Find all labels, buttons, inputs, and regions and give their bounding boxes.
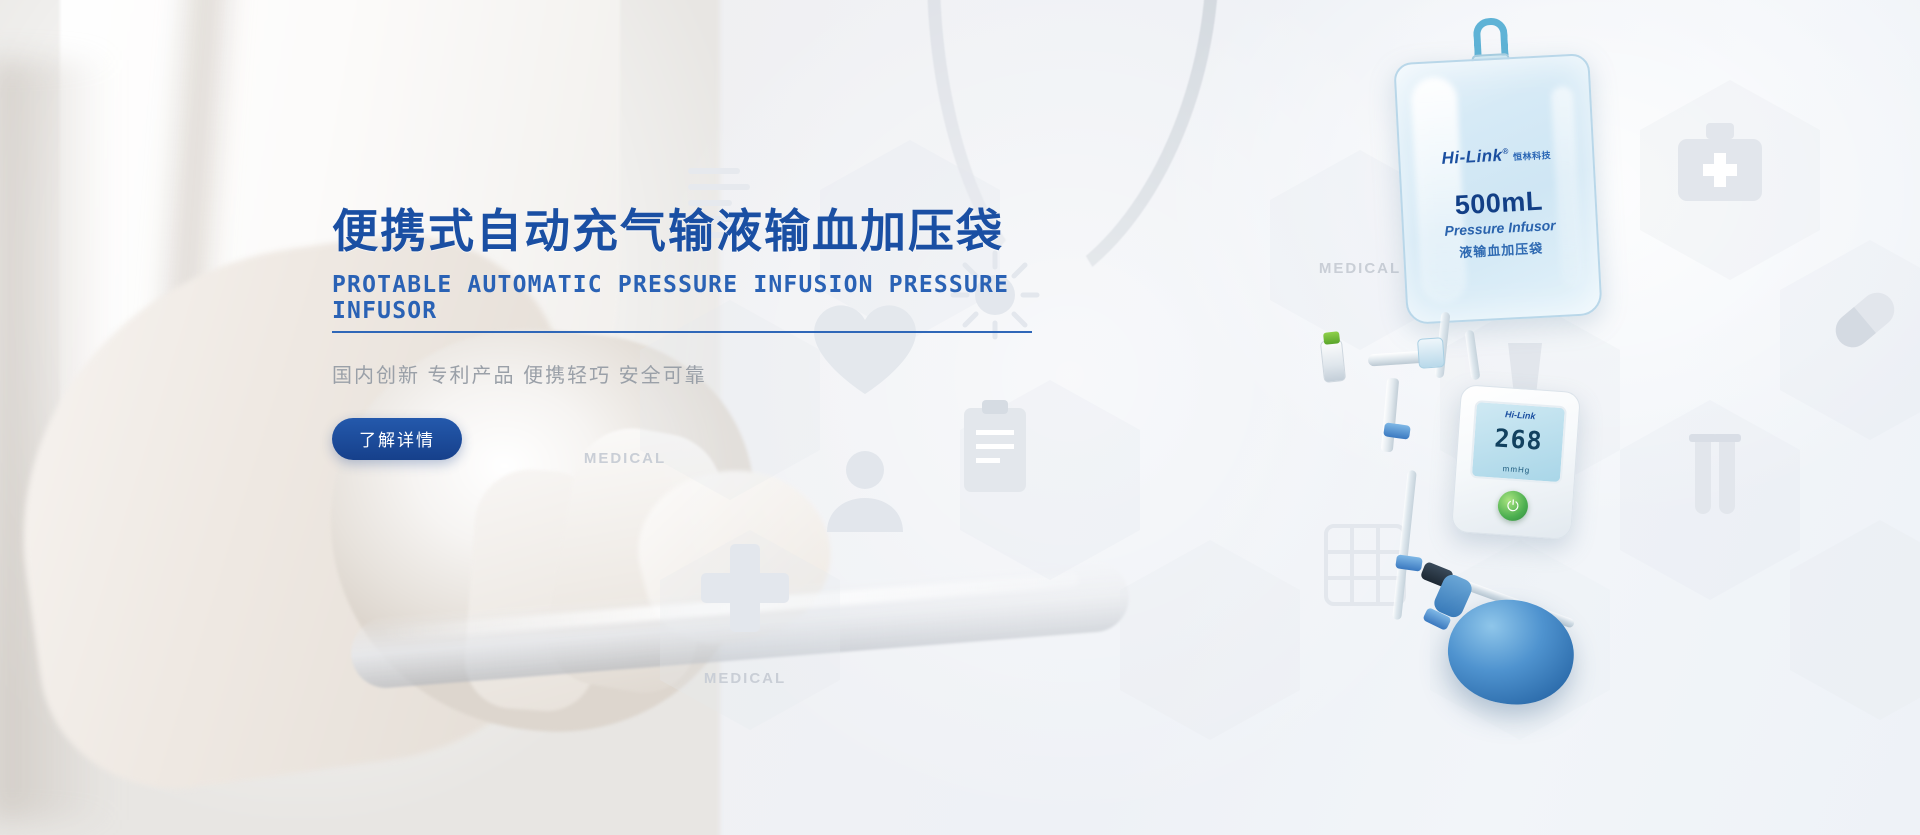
pressure-control-device: Hi-Link 268 mmHg ⏻ [1451,384,1581,540]
banner-copy: 便携式自动充气输液输血加压袋 PROTABLE AUTOMATIC PRESSU… [332,205,1032,460]
bag-brand-text: Hi-Link [1441,146,1503,168]
registered-mark: ® [1502,147,1509,156]
learn-more-button[interactable]: 了解详情 [332,418,462,460]
iv-tube-upper-right [1465,330,1481,381]
iv-tube-lower [1392,470,1417,620]
page-title: 便携式自动充气输液输血加压袋 [332,205,1032,258]
cross-icon [670,520,820,660]
green-cap-valve [1320,339,1346,383]
watermark-label: MEDICAL [704,670,786,687]
device-pressure-value: 268 [1474,422,1564,457]
drip-chamber [1381,378,1399,453]
bag-brand-cn: 恒林科技 [1513,150,1551,162]
product-image: Hi-Link®恒林科技 500mL Pressure Infusor 液输血加… [1138,0,1898,835]
device-display: Hi-Link 268 mmHg [1470,400,1567,484]
feature-tagline: 国内创新 专利产品 便携轻巧 安全可靠 [332,359,1032,388]
pressure-infusion-bag: Hi-Link®恒林科技 500mL Pressure Infusor 液输血加… [1393,53,1602,325]
hero-banner: MEDICAL MEDICAL MEDICAL [0,0,1920,835]
page-subtitle-en: PROTABLE AUTOMATIC PRESSURE INFUSION PRE… [332,272,1032,333]
device-pressure-unit: mmHg [1472,462,1560,477]
device-brand-label: Hi-Link [1476,407,1564,423]
power-icon[interactable]: ⏻ [1497,490,1529,522]
inline-valve [1417,337,1445,369]
